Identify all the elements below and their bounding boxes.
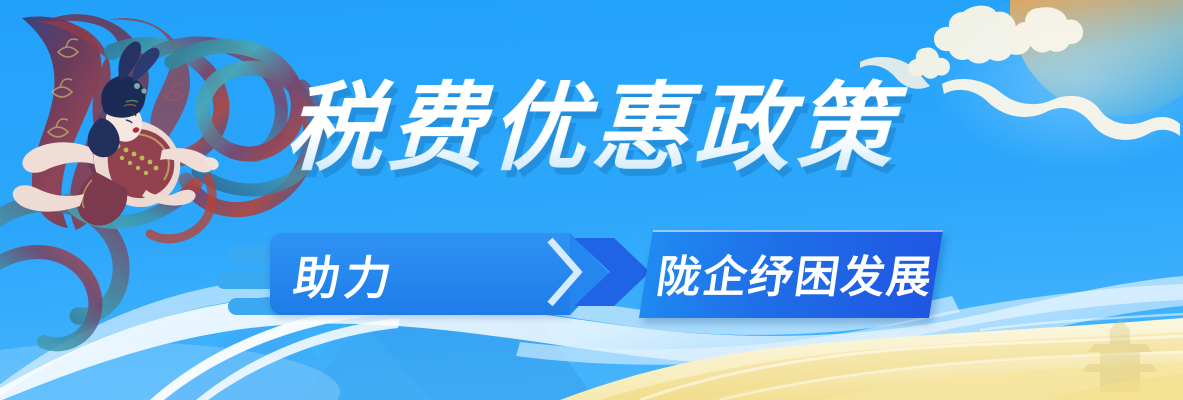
tax-policy-banner: 税费优惠政策 助力 陇企纾困发展: [0, 0, 1183, 400]
sky-background: [0, 0, 1183, 400]
banner-title-wrap: 税费优惠政策: [0, 78, 1183, 187]
subtitle-right-label: 陇企纾困发展: [649, 256, 941, 300]
background-decoration-layer: [0, 0, 1183, 400]
page-title: 税费优惠政策: [274, 78, 910, 187]
flying-apsara-figure: [0, 0, 1183, 400]
pagoda-silhouette: [1082, 318, 1158, 392]
subtitle-ribbon: 助力 陇企纾困发展: [248, 228, 938, 328]
subtitle-left-label: 助力: [291, 255, 399, 301]
